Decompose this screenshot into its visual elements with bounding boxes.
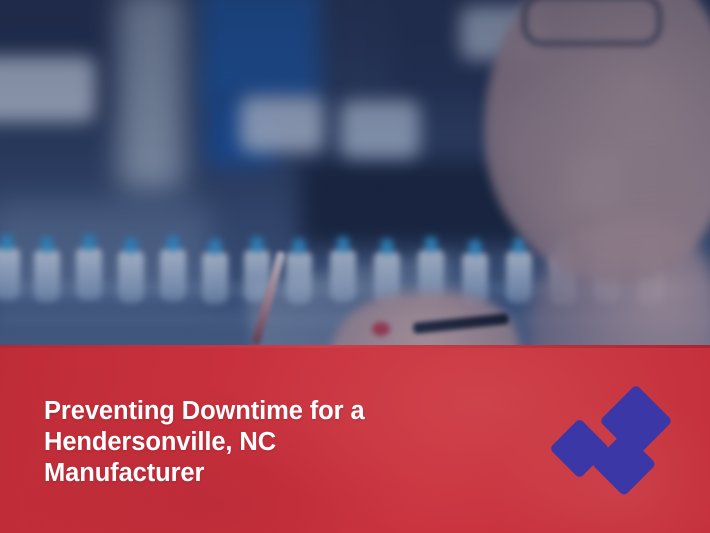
headline-banner: Preventing Downtime for a Hendersonville…: [0, 345, 710, 533]
three-diamond-logo[interactable]: [550, 391, 676, 495]
article-hero-card[interactable]: Preventing Downtime for a Hendersonville…: [0, 0, 710, 533]
banner-content: Preventing Downtime for a Hendersonville…: [0, 345, 710, 533]
page-title: Preventing Downtime for a Hendersonville…: [44, 396, 365, 489]
